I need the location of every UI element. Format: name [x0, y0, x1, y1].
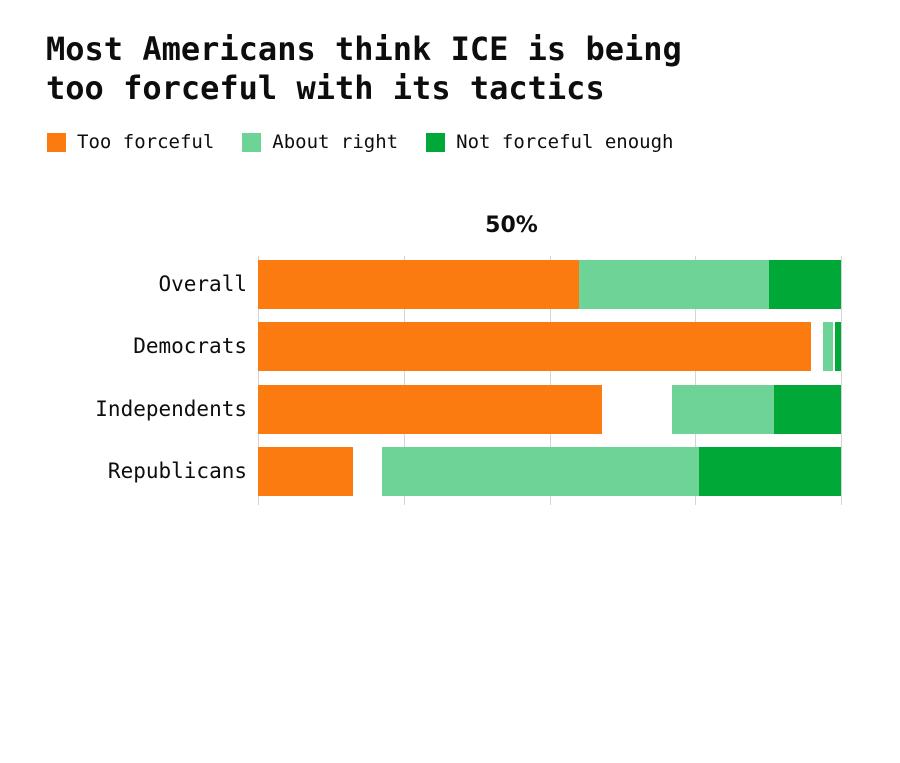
legend-item-label: Not forceful enough — [456, 131, 673, 153]
legend-item-label: About right — [272, 131, 398, 153]
bar-segment[interactable] — [699, 447, 841, 496]
gridline — [841, 256, 842, 505]
bar-row-label: Republicans — [108, 447, 247, 496]
bar-segment[interactable] — [258, 385, 602, 434]
bar-row: Republicans — [258, 447, 841, 496]
legend-swatch-about-right — [242, 133, 261, 152]
plot-area: OverallDemocratsIndependentsRepublicans — [258, 256, 841, 505]
bar-segment[interactable] — [835, 322, 841, 371]
bar-row: Overall — [258, 260, 841, 309]
bar-segment[interactable] — [258, 322, 811, 371]
bar-row-label: Overall — [158, 260, 247, 309]
legend-swatch-not-forceful-enough — [426, 133, 445, 152]
bar-row: Democrats — [258, 322, 841, 371]
bar-row-label: Democrats — [133, 322, 247, 371]
chart-legend: Too forcefulAbout rightNot forceful enou… — [47, 131, 701, 153]
legend-item[interactable]: About right — [242, 131, 398, 153]
bar-segment[interactable] — [258, 447, 353, 496]
bar-segment[interactable] — [769, 260, 841, 309]
bar-segment[interactable] — [774, 385, 841, 434]
bar-segment[interactable] — [382, 447, 699, 496]
legend-item[interactable]: Not forceful enough — [426, 131, 673, 153]
bar-row: Independents — [258, 385, 841, 434]
bar-rows: OverallDemocratsIndependentsRepublicans — [258, 256, 841, 505]
legend-item[interactable]: Too forceful — [47, 131, 214, 153]
bar-segment[interactable] — [672, 385, 774, 434]
legend-item-label: Too forceful — [77, 131, 214, 153]
x-axis-tick-label: 50% — [258, 213, 841, 238]
chart-page: Most Americans think ICE is being too fo… — [0, 0, 900, 763]
bar-segment[interactable] — [823, 322, 833, 371]
bar-row-label: Independents — [95, 385, 247, 434]
page-title: Most Americans think ICE is being too fo… — [46, 30, 846, 108]
bar-segment[interactable] — [258, 260, 584, 309]
x-axis-tick-label-text: 50% — [485, 213, 538, 238]
legend-swatch-too-forceful — [47, 133, 66, 152]
bar-segment[interactable] — [579, 260, 770, 309]
